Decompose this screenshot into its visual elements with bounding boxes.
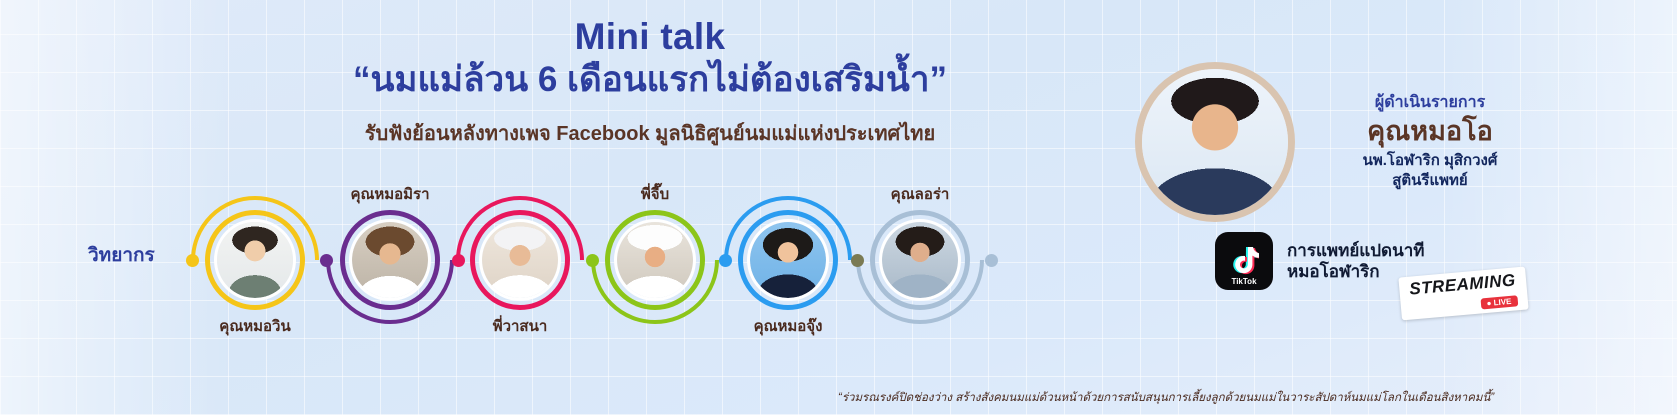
speaker-avatar-5[interactable]: คุณหมอจุ๊ง xyxy=(738,210,838,310)
tiktok-handle: การแพทย์แปดนาที หมอโอฬาริก xyxy=(1287,240,1424,283)
speaker-name-4: พี่จี๊บ xyxy=(565,182,745,206)
avatar-inner-ring xyxy=(479,219,561,301)
tiktok-icon[interactable]: TikTok xyxy=(1215,232,1273,290)
headline-subtitle: รับฟังย้อนหลังทางเพจ Facebook มูลนิธิศูน… xyxy=(230,117,1070,149)
speaker-name-1: คุณหมอวิน xyxy=(165,314,345,338)
host-full-name: นพ.โอฬาริก มุสิกวงศ์ xyxy=(1300,151,1560,171)
speaker-avatar-4[interactable]: พี่จี๊บ xyxy=(605,210,705,310)
avatar-photo xyxy=(217,222,293,298)
avatar-photo xyxy=(482,222,558,298)
avatar-photo xyxy=(352,222,428,298)
connector-dot xyxy=(452,254,465,267)
tiktok-note-glyph xyxy=(1229,245,1259,277)
connector-dot xyxy=(851,254,864,267)
speaker-avatar-1[interactable]: คุณหมอวิน xyxy=(205,210,305,310)
connector-dot xyxy=(586,254,599,267)
avatar-inner-ring xyxy=(879,219,961,301)
connector-dot xyxy=(186,254,199,267)
tiktok-label: TikTok xyxy=(1215,277,1273,286)
tiktok-row[interactable]: TikTok การแพทย์แปดนาที หมอโอฬาริก xyxy=(1215,232,1424,290)
host-info: ผู้ดำเนินรายการ คุณหมอโอ นพ.โอฬาริก มุสิ… xyxy=(1300,90,1560,191)
speaker-name-5: คุณหมอจุ๊ง xyxy=(698,314,878,338)
avatar-photo xyxy=(617,222,693,298)
host-nickname: คุณหมอโอ xyxy=(1300,117,1560,147)
mini-talk-banner: Mini talk “นมแม่ล้วน 6 เดือนแรกไม่ต้องเส… xyxy=(0,0,1677,415)
live-badge: ● LIVE xyxy=(1480,295,1518,309)
host-role-label: ผู้ดำเนินรายการ xyxy=(1300,90,1560,115)
speaker-name-2: คุณหมอมิรา xyxy=(300,182,480,206)
host-specialty: สูตินรีแพทย์ xyxy=(1300,171,1560,191)
speaker-avatar-6[interactable]: คุณลอร่า xyxy=(870,210,970,310)
avatar-inner-ring xyxy=(214,219,296,301)
avatar-photo xyxy=(882,222,958,298)
speaker-avatar-3[interactable]: พี่วาสนา xyxy=(470,210,570,310)
connector-dot xyxy=(719,254,732,267)
headline-quote: “นมแม่ล้วน 6 เดือนแรกไม่ต้องเสริมน้ำ” xyxy=(230,59,1070,101)
connector-dot xyxy=(985,254,998,267)
connector-dot xyxy=(320,254,333,267)
avatar-photo xyxy=(750,222,826,298)
avatar-inner-ring xyxy=(349,219,431,301)
speakers-section: วิทยากร คุณหมอวิน xyxy=(0,180,1060,360)
speaker-name-3: พี่วาสนา xyxy=(430,314,610,338)
tiktok-handle-line1: การแพทย์แปดนาที xyxy=(1287,240,1424,261)
headline-block: Mini talk “นมแม่ล้วน 6 เดือนแรกไม่ต้องเส… xyxy=(230,16,1070,149)
speaker-avatar-2[interactable]: คุณหมอมิรา xyxy=(340,210,440,310)
speaker-name-6: คุณลอร่า xyxy=(830,182,1010,206)
avatar-inner-ring xyxy=(614,219,696,301)
avatar-inner-ring xyxy=(747,219,829,301)
footer-note: “ร่วมรณรงค์ปิดช่องว่าง สร้างสังคมนมแม่ด้… xyxy=(838,389,1494,407)
host-photo-image xyxy=(1142,69,1288,215)
page-title: Mini talk xyxy=(230,16,1070,57)
host-avatar xyxy=(1135,62,1295,222)
